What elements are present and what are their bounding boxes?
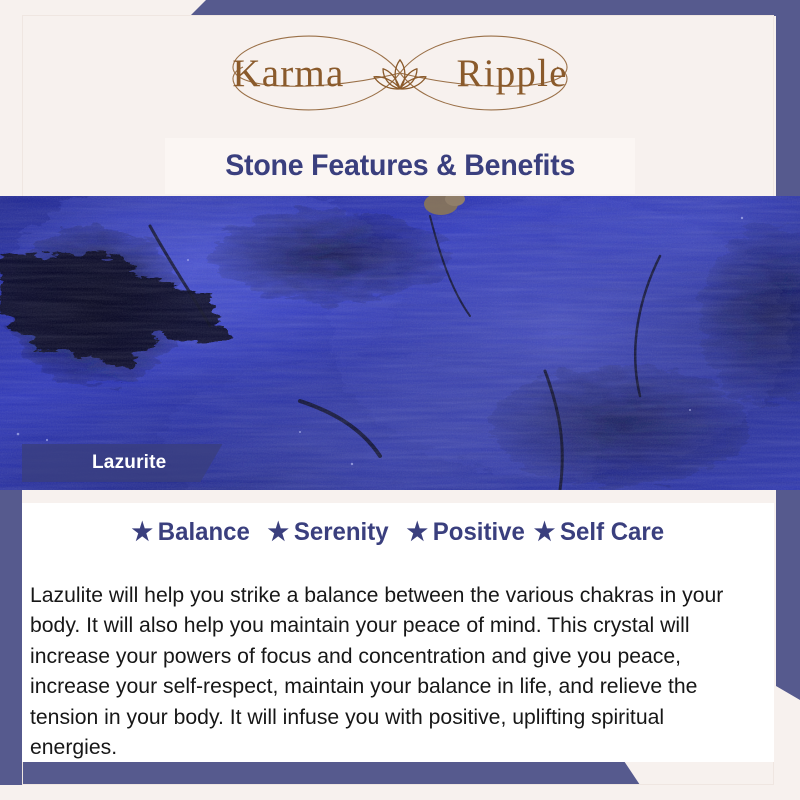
content-panel: ★ Balance ★ Serenity ★ Positive ★ Self C… [22, 490, 774, 762]
brand-name-right: Ripple [456, 54, 567, 93]
keyword-positive: ★ Positive [407, 518, 525, 547]
keyword-label: Balance [158, 518, 250, 547]
star-icon: ★ [534, 520, 556, 545]
benefit-keywords: ★ Balance ★ Serenity ★ Positive ★ Self C… [22, 518, 774, 547]
stone-image: Lazurite [0, 196, 800, 490]
star-icon: ★ [407, 520, 429, 545]
section-title-bar: Stone Features & Benefits [165, 138, 635, 194]
stone-description: Lazulite will help you strike a balance … [30, 580, 747, 763]
star-icon: ★ [131, 520, 153, 545]
lotus-icon [371, 54, 429, 94]
stone-benefits-infographic: Karma Ripple Stone Features & Benefits [0, 0, 800, 800]
keyword-label: Positive [433, 518, 525, 547]
keyword-label: Self Care [560, 518, 664, 547]
panel-top-strip [22, 490, 774, 503]
decorative-band-left [0, 482, 22, 782]
keyword-serenity: ★ Serenity [268, 518, 389, 547]
brand-name-left: Karma [232, 54, 344, 93]
keyword-balance: ★ Balance [131, 518, 249, 547]
star-icon: ★ [268, 520, 290, 545]
keyword-self-care: ★ Self Care [534, 518, 664, 547]
decorative-band-top [190, 0, 800, 16]
stone-name-banner: Lazurite [22, 444, 222, 482]
brand-logo: Karma Ripple [0, 18, 800, 128]
page-title: Stone Features & Benefits [225, 149, 575, 183]
stone-name: Lazurite [92, 452, 166, 474]
decorative-band-bottom [0, 761, 640, 785]
keyword-label: Serenity [294, 518, 389, 547]
